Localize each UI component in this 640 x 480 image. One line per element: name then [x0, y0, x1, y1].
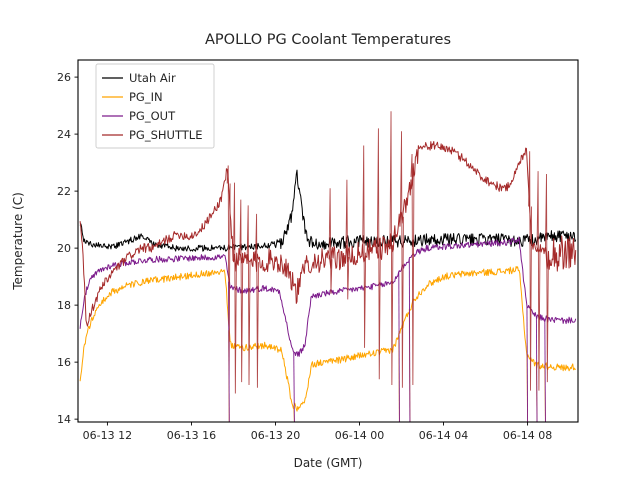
y-tick-label: 22: [57, 185, 71, 198]
series-spike: [545, 174, 548, 382]
series-spike: [400, 131, 403, 388]
x-tick-label: 06-14 04: [419, 429, 468, 442]
x-tick-label: 06-13 16: [167, 429, 216, 442]
y-tick-label: 14: [57, 413, 71, 426]
chart-title: APOLLO PG Coolant Temperatures: [205, 32, 451, 48]
series-spike: [390, 111, 393, 385]
series-spike: [529, 151, 532, 390]
y-tick-label: 18: [57, 299, 71, 312]
y-tick-label: 20: [57, 242, 71, 255]
x-tick-label: 06-14 00: [335, 429, 384, 442]
series-dropout: [409, 259, 410, 422]
y-axis-label: Temperature (C): [11, 192, 25, 291]
legend-label-pg-in: PG_IN: [129, 90, 163, 104]
series-dropout: [536, 317, 537, 422]
series-dropout: [229, 282, 230, 422]
series-dropout: [294, 352, 295, 422]
series-spike: [256, 214, 259, 388]
chart-svg: APOLLO PG Coolant Temperatures1416182022…: [0, 0, 640, 480]
series-dropout: [527, 306, 528, 422]
y-tick-label: 16: [57, 356, 71, 369]
series-dropout: [399, 272, 400, 422]
series-dropout: [545, 319, 546, 422]
y-tick-label: 24: [57, 128, 71, 141]
legend-label-pg-out: PG_OUT: [129, 109, 176, 123]
y-tick-label: 26: [57, 71, 71, 84]
legend-label-pg-shuttle: PG_SHUTTLE: [129, 128, 202, 142]
x-axis-label: Date (GMT): [294, 456, 363, 470]
series-spike: [537, 171, 540, 390]
series-spike: [363, 146, 366, 348]
x-tick-label: 06-13 20: [251, 429, 300, 442]
x-tick-label: 06-14 08: [503, 429, 552, 442]
figure-canvas: APOLLO PG Coolant Temperatures1416182022…: [0, 0, 640, 480]
series-spike: [247, 205, 250, 385]
series-line-utah air: [80, 170, 576, 251]
legend-label-utah air: Utah Air: [129, 71, 176, 85]
series-line-pg-in: [80, 266, 576, 411]
x-tick-label: 06-13 12: [83, 429, 132, 442]
